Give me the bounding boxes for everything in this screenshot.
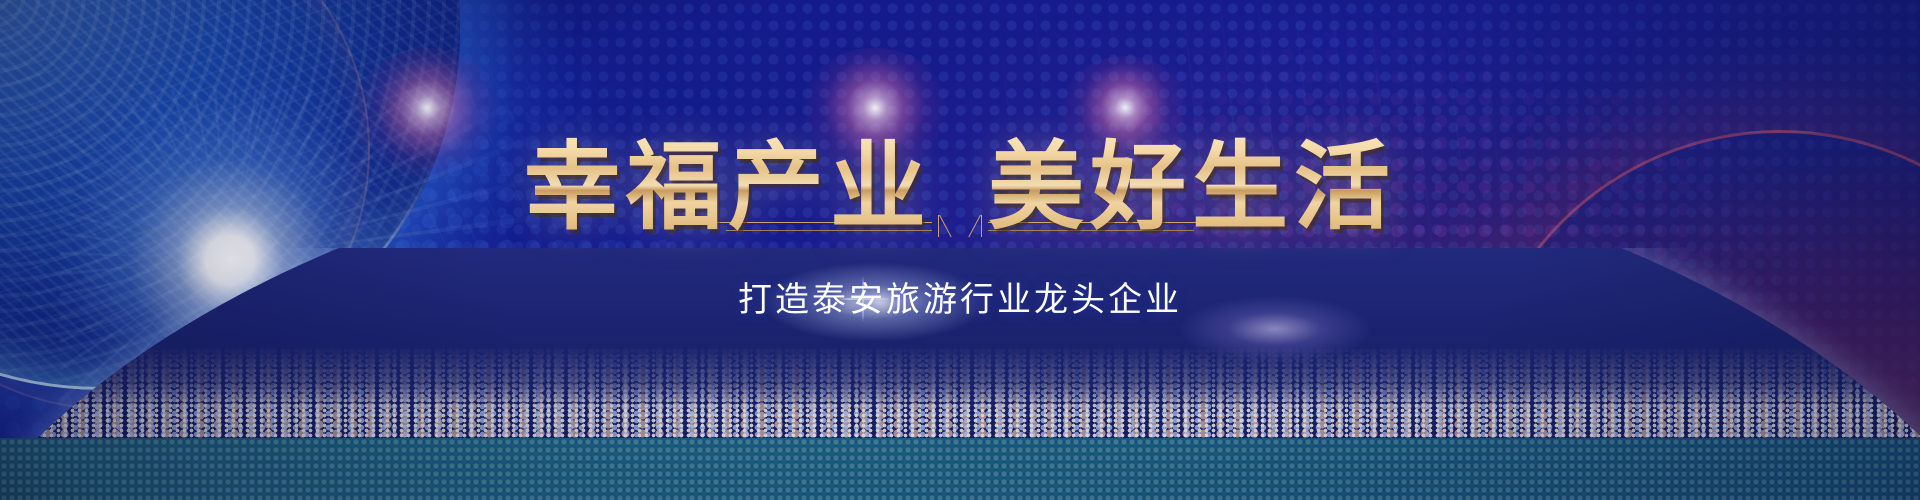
hero-banner: 幸福产业美好生活 打造泰安旅游行业龙头企业: [0, 0, 1920, 500]
banner-title: 幸福产业美好生活: [524, 126, 1396, 250]
banner-title-part-1: 幸福产业: [524, 134, 932, 241]
teal-dot-icon: [1164, 372, 1169, 377]
banner-title-part-2: 美好生活: [988, 134, 1396, 241]
banner-content: 幸福产业美好生活 打造泰安旅游行业龙头企业: [0, 0, 1920, 321]
banner-title-row: 幸福产业美好生活: [0, 62, 1920, 186]
lens-flare-1-icon: [352, 48, 502, 178]
banner-subtitle: 打造泰安旅游行业龙头企业: [0, 272, 1920, 321]
bottom-teal-bar: [0, 438, 1920, 500]
